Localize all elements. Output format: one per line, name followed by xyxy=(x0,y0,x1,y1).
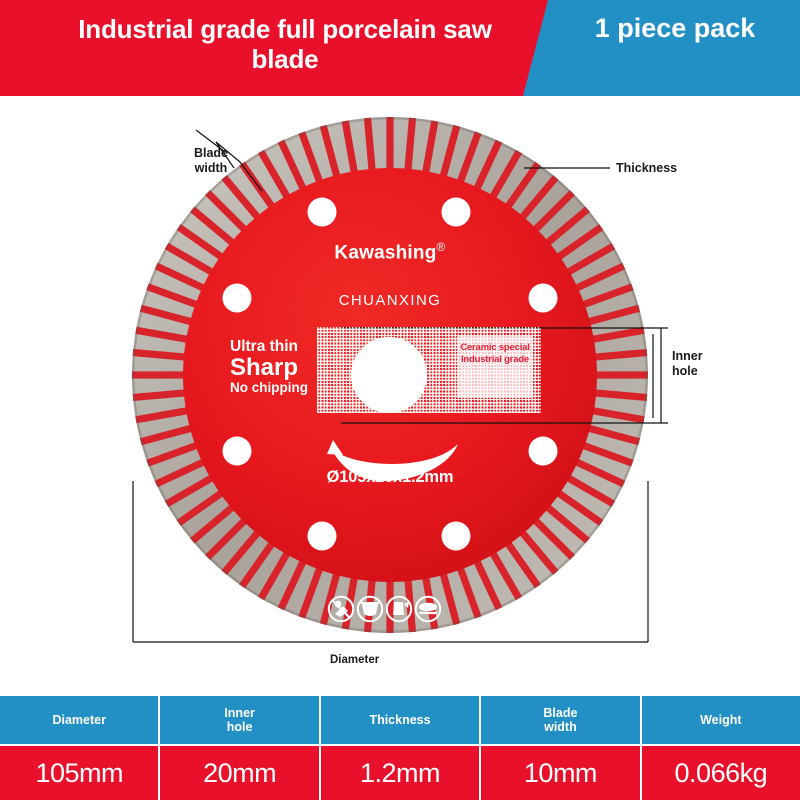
annotation-diameter: Diameter xyxy=(330,654,379,668)
top-banner: Industrial grade full porcelain saw blad… xyxy=(0,0,800,96)
saw-blade-illustration xyxy=(0,96,800,686)
mounting-hole xyxy=(529,437,558,466)
banner-title: Industrial grade full porcelain saw blad… xyxy=(50,14,520,74)
spec-column-diameter: Diameter 105mm xyxy=(0,696,160,800)
spec-column-blade-width: Blade width 10mm xyxy=(481,696,641,800)
watermark-label: Ceramic special Industrial grade xyxy=(457,336,533,398)
mounting-hole xyxy=(223,437,252,466)
spec-header-diameter: Diameter xyxy=(0,696,158,746)
spec-column-weight: Weight 0.066kg xyxy=(642,696,800,800)
mounting-hole xyxy=(308,522,337,551)
spec-header-thickness: Thickness xyxy=(321,696,479,746)
spec-header-weight: Weight xyxy=(642,696,800,746)
annotation-inner-hole: Inner hole xyxy=(672,349,742,379)
annotation-blade-width: Blade width xyxy=(172,146,250,176)
spec-header-blade-width: Blade width xyxy=(481,696,639,746)
center-arbor-hole xyxy=(351,337,427,413)
spec-header-inner-hole: Inner hole xyxy=(160,696,318,746)
annotation-thickness: Thickness xyxy=(616,161,677,176)
mounting-hole xyxy=(308,198,337,227)
banner-pack-quantity: 1 piece pack xyxy=(570,12,780,44)
spec-value-inner-hole: 20mm xyxy=(160,746,318,800)
mounting-hole xyxy=(223,284,252,313)
spec-value-diameter: 105mm xyxy=(0,746,158,800)
spec-value-thickness: 1.2mm xyxy=(321,746,479,800)
spec-value-weight: 0.066kg xyxy=(642,746,800,800)
spec-column-inner-hole: Inner hole 20mm xyxy=(160,696,320,800)
mounting-hole xyxy=(529,284,558,313)
mounting-hole xyxy=(442,522,471,551)
product-diagram: Ceramic special Industrial grade Kawashi… xyxy=(0,96,800,686)
spec-column-thickness: Thickness 1.2mm xyxy=(321,696,481,800)
spec-value-blade-width: 10mm xyxy=(481,746,639,800)
mounting-hole xyxy=(442,198,471,227)
specification-table: Diameter 105mm Inner hole 20mm Thickness… xyxy=(0,696,800,800)
